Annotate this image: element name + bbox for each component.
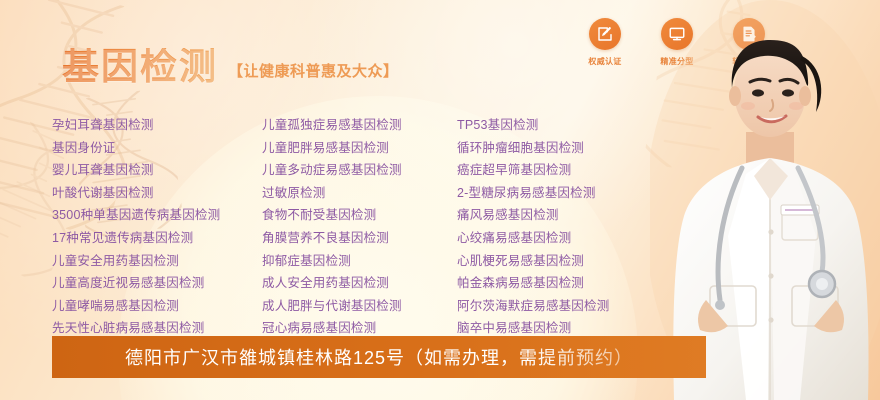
- list-item[interactable]: 儿童安全用药基因检测: [52, 250, 262, 273]
- document-pen-icon: [733, 18, 765, 50]
- list-item[interactable]: 婴儿耳聋基因检测: [52, 159, 262, 182]
- feature-badge-label: 轻松自检: [732, 56, 765, 67]
- list-item[interactable]: 儿童高度近视易感基因检测: [52, 272, 262, 295]
- list-item[interactable]: 心绞痛易感基因检测: [457, 227, 670, 250]
- list-item[interactable]: 癌症超早筛基因检测: [457, 159, 670, 182]
- list-item[interactable]: 成人肥胖与代谢基因检测: [262, 295, 457, 318]
- list-item[interactable]: 循环肿瘤细胞基因检测: [457, 137, 670, 160]
- list-item[interactable]: 儿童哮喘易感基因检测: [52, 295, 262, 318]
- page-subtitle: 【让健康科普惠及大众】: [228, 60, 399, 85]
- feature-badge-label: 精准分型: [660, 56, 693, 67]
- service-list: 孕妇耳聋基因检测 基因身份证 婴儿耳聋基因检测 叶酸代谢基因检测 3500种单基…: [52, 114, 670, 340]
- feature-badge-typing[interactable]: 精准分型: [654, 18, 700, 67]
- list-item[interactable]: 孕妇耳聋基因检测: [52, 114, 262, 137]
- list-item[interactable]: 痛风易感基因检测: [457, 204, 670, 227]
- address-bar: 德阳市广汉市雒城镇桂林路125号（如需办理，需提前预约）: [52, 336, 706, 378]
- service-list-column-2: 儿童孤独症易感基因检测 儿童肥胖易感基因检测 儿童多动症易感基因检测 过敏原检测…: [262, 114, 457, 340]
- service-list-column-3: TP53基因检测 循环肿瘤细胞基因检测 癌症超早筛基因检测 2-型糖尿病易感基因…: [457, 114, 670, 340]
- list-item[interactable]: 叶酸代谢基因检测: [52, 182, 262, 205]
- list-item[interactable]: 2-型糖尿病易感基因检测: [457, 182, 670, 205]
- monitor-icon: [661, 18, 693, 50]
- list-item[interactable]: 过敏原检测: [262, 182, 457, 205]
- list-item[interactable]: 角膜营养不良基因检测: [262, 227, 457, 250]
- feature-badge-label: 权威认证: [588, 56, 621, 67]
- list-item[interactable]: 成人安全用药基因检测: [262, 272, 457, 295]
- list-item[interactable]: 帕金森病易感基因检测: [457, 272, 670, 295]
- page-title: 基因检测: [62, 48, 218, 85]
- list-item[interactable]: 抑郁症基因检测: [262, 250, 457, 273]
- service-list-column-1: 孕妇耳聋基因检测 基因身份证 婴儿耳聋基因检测 叶酸代谢基因检测 3500种单基…: [52, 114, 262, 340]
- list-item[interactable]: 17种常见遗传病基因检测: [52, 227, 262, 250]
- feature-badge-group: 权威认证 精准分型: [582, 18, 772, 67]
- poster-header: 基因检测 【让健康科普惠及大众】: [62, 48, 399, 85]
- feature-badge-selfcheck[interactable]: 轻松自检: [726, 18, 772, 67]
- list-item[interactable]: 心肌梗死易感基因检测: [457, 250, 670, 273]
- address-text: 德阳市广汉市雒城镇桂林路125号（如需办理，需提前预约）: [125, 344, 633, 370]
- list-item[interactable]: 3500种单基因遗传病基因检测: [52, 204, 262, 227]
- list-item[interactable]: 阿尔茨海默症易感基因检测: [457, 295, 670, 318]
- list-item[interactable]: 食物不耐受基因检测: [262, 204, 457, 227]
- list-item[interactable]: 儿童多动症易感基因检测: [262, 159, 457, 182]
- list-item[interactable]: 基因身份证: [52, 137, 262, 160]
- poster-canvas: 基因检测 【让健康科普惠及大众】 权威认证 精准分型: [0, 0, 880, 400]
- pencil-square-icon: [589, 18, 621, 50]
- list-item[interactable]: 儿童肥胖易感基因检测: [262, 137, 457, 160]
- feature-badge-authority[interactable]: 权威认证: [582, 18, 628, 67]
- list-item[interactable]: TP53基因检测: [457, 114, 670, 137]
- list-item[interactable]: 儿童孤独症易感基因检测: [262, 114, 457, 137]
